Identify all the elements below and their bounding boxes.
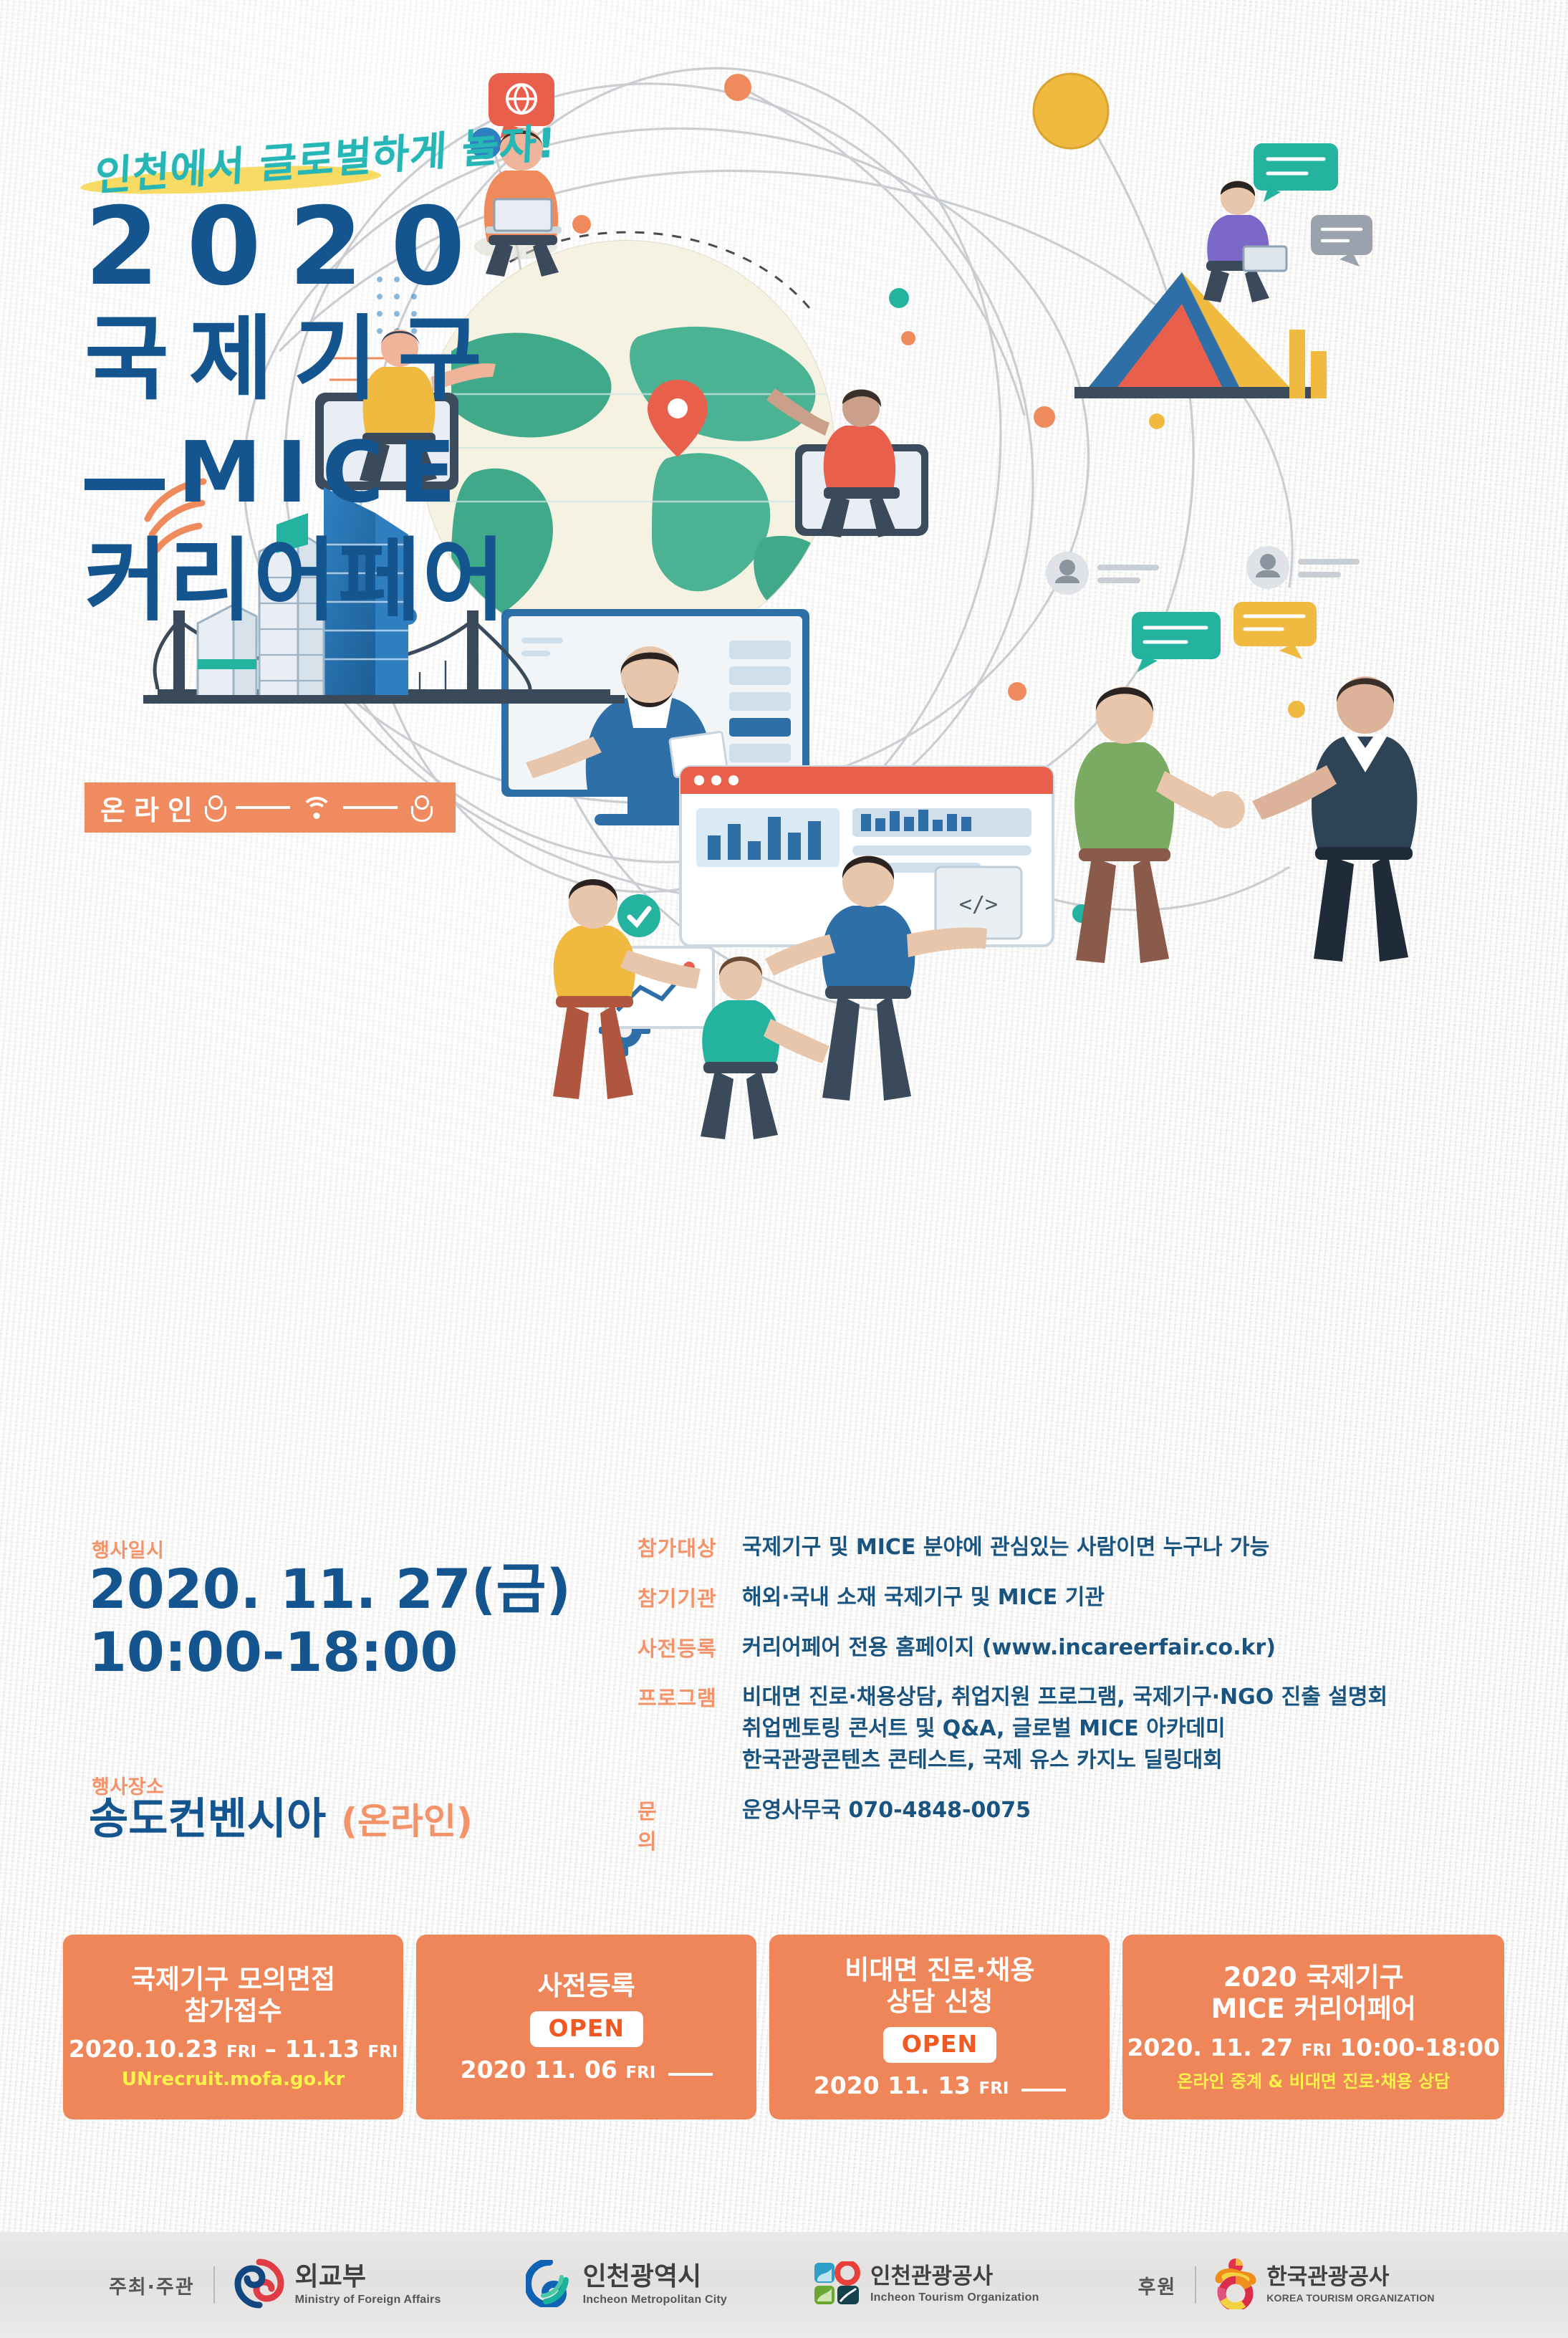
logo-text-block: 한국관광공사 KOREA TOURISM ORGANIZATION	[1266, 2266, 1434, 2304]
divider	[1195, 2266, 1196, 2304]
poster-root: </>	[0, 0, 1568, 2338]
cta-title: 2020 국제기구MICE 커리어페어	[1211, 1962, 1416, 2024]
detail-value: 비대면 진로·채용상담, 취업지원 프로그램, 국제기구·NGO 진출 설명회 …	[742, 1682, 1387, 1776]
cta-date-separator: –	[265, 2035, 277, 2063]
cta-date: 2020.10.23 FRI – 11.13 FRI	[69, 2035, 398, 2063]
online-badge-label: 온라인	[100, 788, 201, 828]
wifi-icon	[300, 795, 333, 820]
logo-name-kr: 인천관광공사	[870, 2266, 1039, 2288]
title-mice: MICE	[178, 430, 471, 514]
cta-weekday: FRI	[625, 2064, 655, 2082]
cta-date: 2020 11. 13 FRI	[814, 2071, 1066, 2099]
connector-line-icon	[236, 806, 290, 809]
detail-key: 문 의	[638, 1795, 742, 1855]
mofa-taegeuk-icon	[234, 2258, 285, 2313]
tagline: 인천에서 글로벌하게 놀자!	[95, 128, 395, 192]
title-korean-line1: 국제기구	[85, 314, 502, 406]
cta-title: 비대면 진로·채용상담 신청	[845, 1955, 1034, 2017]
incheon-tourism-blocks-icon	[813, 2261, 860, 2309]
cta-weekday: FRI	[979, 2079, 1009, 2098]
online-badge-icons	[201, 795, 432, 820]
logo-name-kr: 외교부	[295, 2264, 441, 2290]
detail-rows: 참가대상 국제기구 및 MICE 분야에 관심있는 사람이면 누구나 가능 참기…	[638, 1532, 1533, 1874]
cta-box-row: 국제기구 모의면접참가접수 2020.10.23 FRI – 11.13 FRI…	[63, 1935, 1504, 2119]
info-section: 행사일시 2020. 11. 27(금) 10:00-18:00 행사장소 송도…	[0, 1519, 1568, 1892]
cta-date: 2020 11. 06 FRI	[461, 2056, 713, 2084]
detail-value: 해외·국내 소재 국제기구 및 MICE 기관	[742, 1582, 1105, 1614]
detail-key: 프로그램	[638, 1682, 742, 1776]
cta-box-mock-interview[interactable]: 국제기구 모의면접참가접수 2020.10.23 FRI – 11.13 FRI…	[63, 1935, 403, 2119]
footer-sponsor-role-label: 후원	[1138, 2271, 1177, 2299]
detail-key: 참기기관	[638, 1582, 742, 1614]
cta-box-careerfair[interactable]: 2020 국제기구MICE 커리어페어 2020. 11. 27 FRI 10:…	[1122, 1935, 1504, 2119]
logo-incheon-metropolitan-city: 인천광역시 Incheon Metropolitan City	[526, 2260, 727, 2311]
logo-name-kr: 인천광역시	[583, 2264, 727, 2290]
logo-name-en: KOREA TOURISM ORGANIZATION	[1266, 2292, 1434, 2304]
detail-value: 국제기구 및 MICE 분야에 관심있는 사람이면 누구나 가능	[742, 1532, 1269, 1563]
connector-line-icon	[343, 806, 398, 809]
detail-row: 사전등록 커리어페어 전용 홈페이지 (www.incareerfair.co.…	[638, 1632, 1533, 1664]
logo-text-block: 외교부 Ministry of Foreign Affairs	[295, 2264, 441, 2306]
program-line: 취업멘토링 콘서트 및 Q&A, 글로벌 MICE 아카데미	[742, 1713, 1387, 1745]
svg-text:</>: </>	[959, 892, 998, 917]
logo-text-block: 인천관광공사 Incheon Tourism Organization	[870, 2266, 1039, 2304]
logo-text-block: 인천광역시 Incheon Metropolitan City	[583, 2264, 727, 2306]
incheon-city-swirl-icon	[526, 2260, 573, 2311]
kto-figure-icon	[1215, 2258, 1256, 2313]
detail-row: 참기기관 해외·국내 소재 국제기구 및 MICE 기관	[638, 1582, 1533, 1614]
venue-name: 송도컨벤시아	[89, 1794, 326, 1844]
footer-logo-incheon-city: 인천광역시 Incheon Metropolitan City	[526, 2260, 727, 2311]
title-korean-line2: 커리어페어	[85, 536, 507, 626]
cta-subtitle: 온라인 중계 & 비대면 진로·채용 상담	[1177, 2067, 1450, 2092]
event-venue-value: 송도컨벤시아 (온라인)	[89, 1797, 473, 1843]
logo-korea-tourism-organization: 한국관광공사 KOREA TOURISM ORGANIZATION	[1215, 2258, 1434, 2313]
detail-value: 커리어페어 전용 홈페이지 (www.incareerfair.co.kr)	[742, 1632, 1276, 1664]
online-badge: 온라인	[85, 782, 456, 833]
detail-row: 문 의 운영사무국 070-4848-0075	[638, 1795, 1533, 1855]
event-date-line1: 2020. 11. 27(금)	[89, 1561, 571, 1619]
detail-key: 사전등록	[638, 1632, 742, 1664]
program-line: 한국관광콘텐츠 콘테스트, 국제 유스 카지노 딜링대회	[742, 1745, 1387, 1776]
logo-name-en: Incheon Metropolitan City	[583, 2294, 727, 2306]
cta-time: 10:00-18:00	[1339, 2033, 1500, 2061]
cta-title: 사전등록	[538, 1970, 635, 2002]
cta-title: 국제기구 모의면접참가접수	[131, 1964, 335, 2026]
cta-date-rule	[1021, 2089, 1066, 2092]
footer-host-group: 주최·주관 외교부 Ministry of Foreign Affairs	[109, 2258, 441, 2313]
person-icon	[410, 795, 429, 820]
logo-incheon-tourism-organization: 인천관광공사 Incheon Tourism Organization	[813, 2261, 1039, 2309]
cta-link[interactable]: UNrecruit.mofa.go.kr	[122, 2069, 345, 2090]
cta-box-preregistration[interactable]: 사전등록 OPEN 2020 11. 06 FRI	[416, 1935, 756, 2119]
title-year: 2020	[85, 193, 492, 301]
divider	[213, 2266, 215, 2304]
cta-date: 2020. 11. 27 FRI 10:00-18:00	[1127, 2033, 1500, 2061]
detail-row: 프로그램 비대면 진로·채용상담, 취업지원 프로그램, 국제기구·NGO 진출…	[638, 1682, 1533, 1776]
program-line: 비대면 진로·채용상담, 취업지원 프로그램, 국제기구·NGO 진출 설명회	[742, 1682, 1387, 1713]
cta-weekday: FRI	[367, 2043, 398, 2061]
footer-host-role-label: 주최·주관	[109, 2271, 195, 2299]
footer-logo-incheon-tourism: 인천관광공사 Incheon Tourism Organization	[813, 2261, 1039, 2309]
cta-box-consulting[interactable]: 비대면 진로·채용상담 신청 OPEN 2020 11. 13 FRI	[769, 1935, 1110, 2119]
logo-ministry-of-foreign-affairs: 외교부 Ministry of Foreign Affairs	[234, 2258, 441, 2313]
logo-name-en: Incheon Tourism Organization	[870, 2291, 1039, 2304]
logo-name-en: Ministry of Foreign Affairs	[295, 2294, 441, 2306]
detail-key: 참가대상	[638, 1532, 742, 1563]
title-dash-rule	[85, 479, 165, 490]
status-badge-open: OPEN	[530, 2011, 643, 2047]
footer-sponsor-group: 후원 한국관광공사 KOR	[1138, 2258, 1435, 2313]
person-icon	[204, 795, 223, 820]
footer-logo-bar: 주최·주관 외교부 Ministry of Foreign Affairs	[0, 2232, 1568, 2338]
cta-weekday: FRI	[226, 2043, 256, 2061]
status-badge-open: OPEN	[883, 2027, 996, 2063]
detail-value: 운영사무국 070-4848-0075	[742, 1795, 1031, 1855]
logo-name-kr: 한국관광공사	[1266, 2266, 1434, 2289]
cta-date-rule	[668, 2073, 713, 2076]
event-time-line: 10:00-18:00	[89, 1624, 458, 1682]
venue-online-note: (온라인)	[341, 1801, 473, 1842]
detail-row: 참가대상 국제기구 및 MICE 분야에 관심있는 사람이면 누구나 가능	[638, 1532, 1533, 1563]
cta-weekday: FRI	[1302, 2041, 1332, 2060]
